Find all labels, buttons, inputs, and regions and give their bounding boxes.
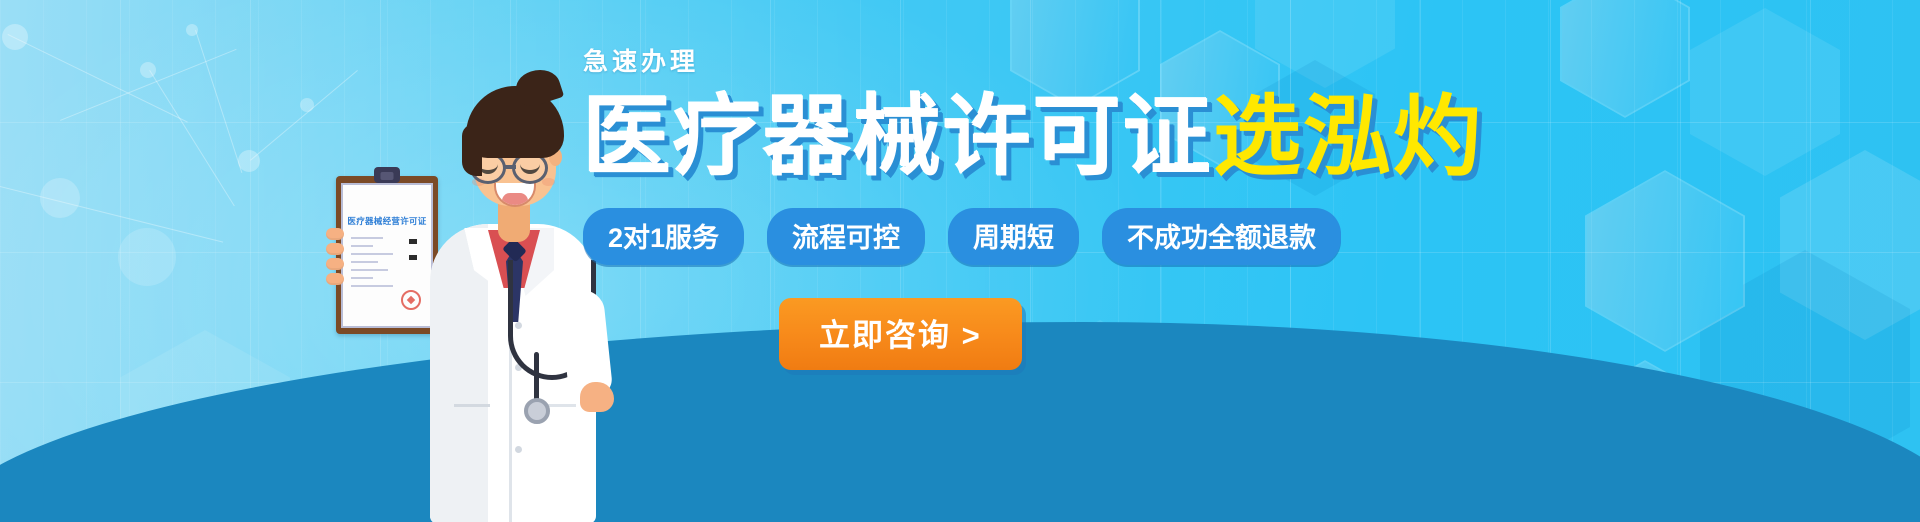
cta-row: 立即咨询 > — [583, 298, 1343, 370]
headline-accent: 选泓灼 — [1213, 87, 1483, 186]
eyebrow-text: 急速办理 — [583, 42, 1343, 78]
feature-badge[interactable]: 流程可控 — [767, 208, 925, 265]
headline: 医疗器械许可证选泓灼 — [583, 92, 1343, 182]
feature-badge[interactable]: 2对1服务 — [583, 208, 744, 265]
hand-fingers — [326, 228, 344, 288]
promo-banner: 医疗器械经营许可证 — [0, 0, 1920, 522]
feature-badge[interactable]: 周期短 — [948, 208, 1079, 265]
feature-badge-list: 2对1服务 流程可控 周期短 不成功全额退款 — [583, 208, 1343, 265]
doctor-illustration — [412, 52, 612, 522]
feature-badge[interactable]: 不成功全额退款 — [1102, 208, 1341, 265]
headline-primary: 医疗器械许可证 — [583, 87, 1213, 186]
banner-content: 急速办理 医疗器械许可证选泓灼 2对1服务 流程可控 周期短 不成功全额退款 立… — [583, 42, 1343, 370]
consult-now-button[interactable]: 立即咨询 > — [779, 298, 1022, 370]
